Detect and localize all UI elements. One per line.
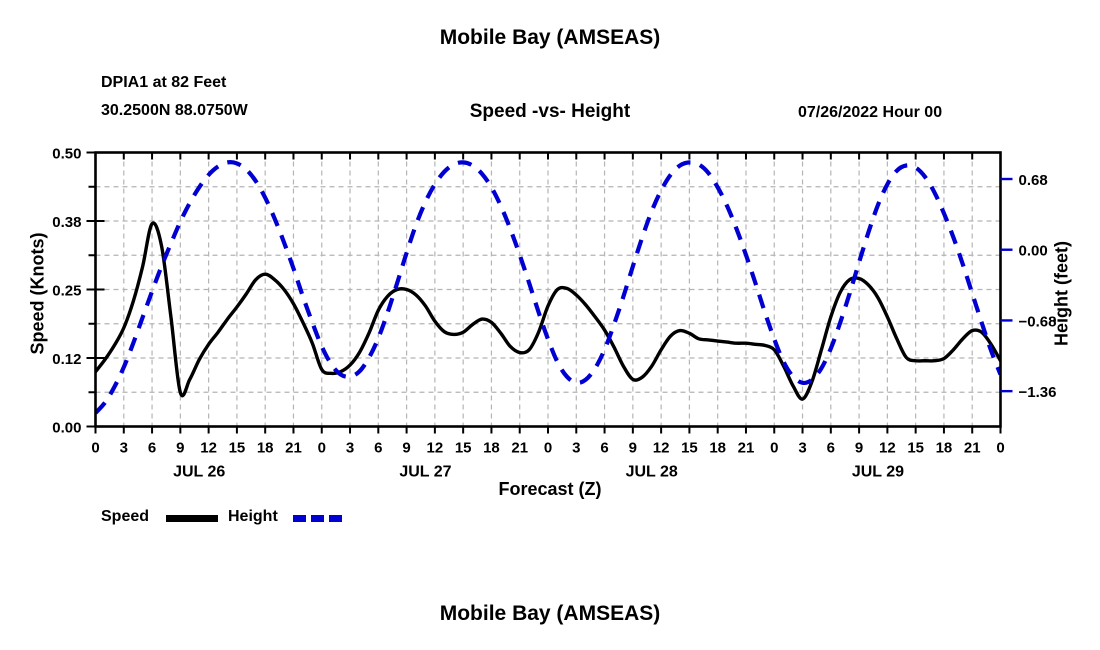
x-axis-day-label: JUL 28 [626,464,678,481]
legend-label-speed: Speed [101,508,149,526]
page-title-bottom: Mobile Bay (AMSEAS) [0,602,1100,626]
x-tick-label: 12 [427,440,444,457]
legend-swatch-speed [166,515,218,522]
x-tick-label: 3 [572,440,580,457]
x-tick-label: 3 [120,440,128,457]
x-tick-label: 12 [879,440,896,457]
x-tick-label: 6 [827,440,835,457]
y-tick-label-left: 0.12 [52,351,81,368]
y-tick-label-right: 0.68 [1019,172,1048,189]
x-tick-label: 18 [936,440,953,457]
y-tick-label-left: 0.00 [52,420,81,437]
x-tick-label: 6 [600,440,608,457]
x-tick-label: 15 [907,440,924,457]
x-tick-label: 6 [374,440,382,457]
x-tick-label: 0 [996,440,1004,457]
x-tick-label: 0 [318,440,326,457]
x-tick-label: 6 [148,440,156,457]
y-tick-label-left: 0.25 [52,283,81,300]
x-tick-label: 18 [483,440,500,457]
x-tick-label: 3 [346,440,354,457]
x-tick-label: 9 [629,440,637,457]
x-axis-day-label: JUL 27 [399,464,451,481]
chart-page: Mobile Bay (AMSEAS) DPIA1 at 82 Feet 30.… [0,0,1100,650]
x-axis-day-label: JUL 26 [173,464,225,481]
legend-swatch-height [293,515,345,522]
x-tick-label: 21 [964,440,981,457]
x-tick-label: 0 [544,440,552,457]
legend-label-height: Height [228,508,278,526]
x-tick-label: 15 [681,440,698,457]
x-tick-label: 3 [798,440,806,457]
gridlines [96,153,1001,427]
x-tick-label: 12 [200,440,217,457]
x-tick-label: 0 [770,440,778,457]
x-tick-label: 12 [653,440,670,457]
y-tick-label-right: −1.36 [1019,384,1057,401]
y-tick-label-left: 0.38 [52,214,81,231]
x-tick-label: 21 [285,440,302,457]
x-tick-label: 0 [91,440,99,457]
x-tick-label: 21 [738,440,755,457]
x-tick-label: 9 [855,440,863,457]
x-tick-label: 9 [176,440,184,457]
y-tick-label-right: 0.00 [1019,243,1048,260]
x-tick-label: 15 [455,440,472,457]
x-axis-day-label: JUL 29 [852,464,904,481]
axis-tick-labels: 0369121518210369121518210369121518210369… [52,146,1056,481]
chart-plot-area: 0369121518210369121518210369121518210369… [0,0,1100,650]
x-tick-label: 18 [709,440,726,457]
x-tick-label: 9 [402,440,410,457]
x-tick-label: 21 [511,440,528,457]
y-tick-label-left: 0.50 [52,146,81,163]
x-tick-label: 15 [229,440,246,457]
y-tick-label-right: −0.68 [1019,313,1057,330]
x-tick-label: 18 [257,440,274,457]
